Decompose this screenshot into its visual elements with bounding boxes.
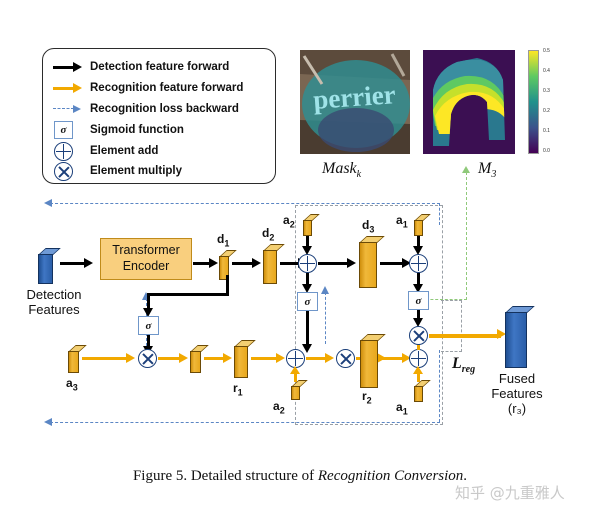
- legend-item-element-add: Element add: [53, 141, 158, 161]
- label-a2-top: a2: [283, 213, 295, 229]
- backward-arrow-bottom: [44, 418, 52, 426]
- label-a2-bottom: a2: [273, 399, 285, 415]
- arrow-r1-to-add3: [251, 357, 279, 360]
- fused-link-region: [441, 300, 462, 352]
- branch-d1-left: [147, 293, 229, 296]
- arrow-input-to-encoder: [60, 262, 86, 265]
- backward-path-top: [50, 203, 440, 204]
- sigmoid2-to-multiply2: [306, 311, 309, 346]
- arrowhead: [325, 353, 334, 363]
- detection-features-slab: [38, 248, 53, 284]
- mask-supervision-path: [466, 172, 467, 300]
- legend-item-detection-forward: Detection feature forward: [53, 57, 229, 77]
- watermark: 知乎 @九重雅人: [455, 482, 565, 503]
- legend-label: Recognition loss backward: [90, 103, 239, 115]
- element-add-1: [298, 254, 317, 273]
- label-a1-top: a1: [396, 213, 408, 229]
- colorbar-tick: 0.4: [543, 68, 550, 74]
- slab-a3: [68, 345, 79, 373]
- label-a1-bottom: a1: [396, 400, 408, 416]
- arrow-add1-to-d3: [318, 262, 350, 265]
- slab-a1-top: [414, 214, 423, 236]
- arrowhead: [290, 366, 300, 374]
- arrow-to-fused-features: [429, 334, 501, 338]
- colorbar-tick: 0.2: [543, 108, 550, 114]
- solid-black-arrow-icon: [53, 59, 83, 75]
- legend-label: Detection feature forward: [90, 61, 229, 73]
- legend-item-recognition-forward: Recognition feature forward: [53, 78, 243, 98]
- solid-yellow-arrow-icon: [53, 80, 83, 96]
- legend-box: Detection feature forward Recognition fe…: [42, 48, 276, 184]
- sigmoid-gate-1: σ: [138, 316, 159, 335]
- sigmoid-glyph: σ: [54, 121, 73, 139]
- transformer-encoder-block: Transformer Encoder: [100, 238, 192, 280]
- element-multiply-3: [409, 326, 428, 345]
- slab-d2: [263, 244, 277, 284]
- sigmoid-box-icon: σ: [53, 122, 83, 138]
- label-r1: r1: [233, 381, 243, 397]
- mask-supervision-arrow: [462, 166, 470, 173]
- arrowhead: [84, 258, 93, 268]
- loss-label: Lreg: [452, 355, 475, 375]
- sigmoid-gate-3: σ: [408, 291, 429, 310]
- arrowhead: [179, 353, 188, 363]
- arrowhead: [276, 353, 285, 363]
- arrowhead: [413, 366, 423, 374]
- label-a3: a3: [66, 376, 78, 392]
- colorbar-tick: 0.3: [543, 88, 550, 94]
- element-add-2: [409, 254, 428, 273]
- arrowhead: [223, 353, 232, 363]
- arrow-a3-to-multiply1: [82, 357, 129, 360]
- arrowhead: [209, 258, 218, 268]
- sigmoid-gate-2: σ: [297, 292, 318, 311]
- colorbar: [528, 50, 539, 154]
- label-d3: d3: [362, 218, 374, 234]
- label-d2: d2: [262, 226, 274, 242]
- legend-label: Element add: [90, 145, 158, 157]
- element-multiply-1: [138, 349, 157, 368]
- colorbar-tick: 0.1: [543, 128, 550, 134]
- label-d1: d1: [217, 232, 229, 248]
- arrowhead: [126, 353, 135, 363]
- label-r2: r2: [362, 389, 372, 405]
- detection-features-label: Detection Features: [14, 288, 94, 318]
- slab-a2-bottom: [291, 380, 300, 400]
- slab-r1: [234, 340, 248, 378]
- legend-item-sigmoid: σ Sigmoid function: [53, 120, 184, 140]
- legend-item-element-multiply: Element multiply: [53, 161, 182, 181]
- circle-plus-icon: [53, 143, 83, 159]
- dashed-blue-arrow-icon: [53, 101, 83, 117]
- arrowhead: [252, 258, 261, 268]
- colorbar-tick: 0.0: [543, 148, 550, 154]
- circle-times-icon: [53, 163, 83, 179]
- element-multiply-2: [336, 349, 355, 368]
- legend-label: Element multiply: [90, 165, 182, 177]
- arrowhead: [347, 258, 356, 268]
- slab-a1-bottom: [414, 380, 423, 402]
- mask-image-label: Maskk: [322, 160, 361, 180]
- legend-label: Sigmoid function: [90, 124, 184, 136]
- mask-image: perrier: [300, 50, 410, 154]
- arrowhead: [302, 344, 312, 353]
- slab-intermediate: [190, 345, 201, 373]
- mask-image-svg: perrier: [300, 50, 410, 154]
- backward-arrow-top: [44, 199, 52, 207]
- slab-a2-top: [303, 214, 312, 236]
- heatmap-image: [423, 50, 515, 154]
- legend-item-recognition-backward: Recognition loss backward: [53, 99, 239, 119]
- legend-label: Recognition feature forward: [90, 82, 243, 94]
- slab-r2: [360, 334, 378, 388]
- fused-features-label: Fused Features (r₃): [474, 372, 560, 417]
- svg-text:perrier: perrier: [312, 79, 396, 115]
- heatmap-label: M3: [478, 160, 496, 180]
- colorbar-tick: 0.5: [543, 48, 550, 54]
- slab-d3: [359, 236, 377, 288]
- heatmap-svg: [423, 50, 515, 154]
- fused-features-slab: [505, 306, 527, 368]
- arrow-d1-to-d2: [232, 262, 254, 265]
